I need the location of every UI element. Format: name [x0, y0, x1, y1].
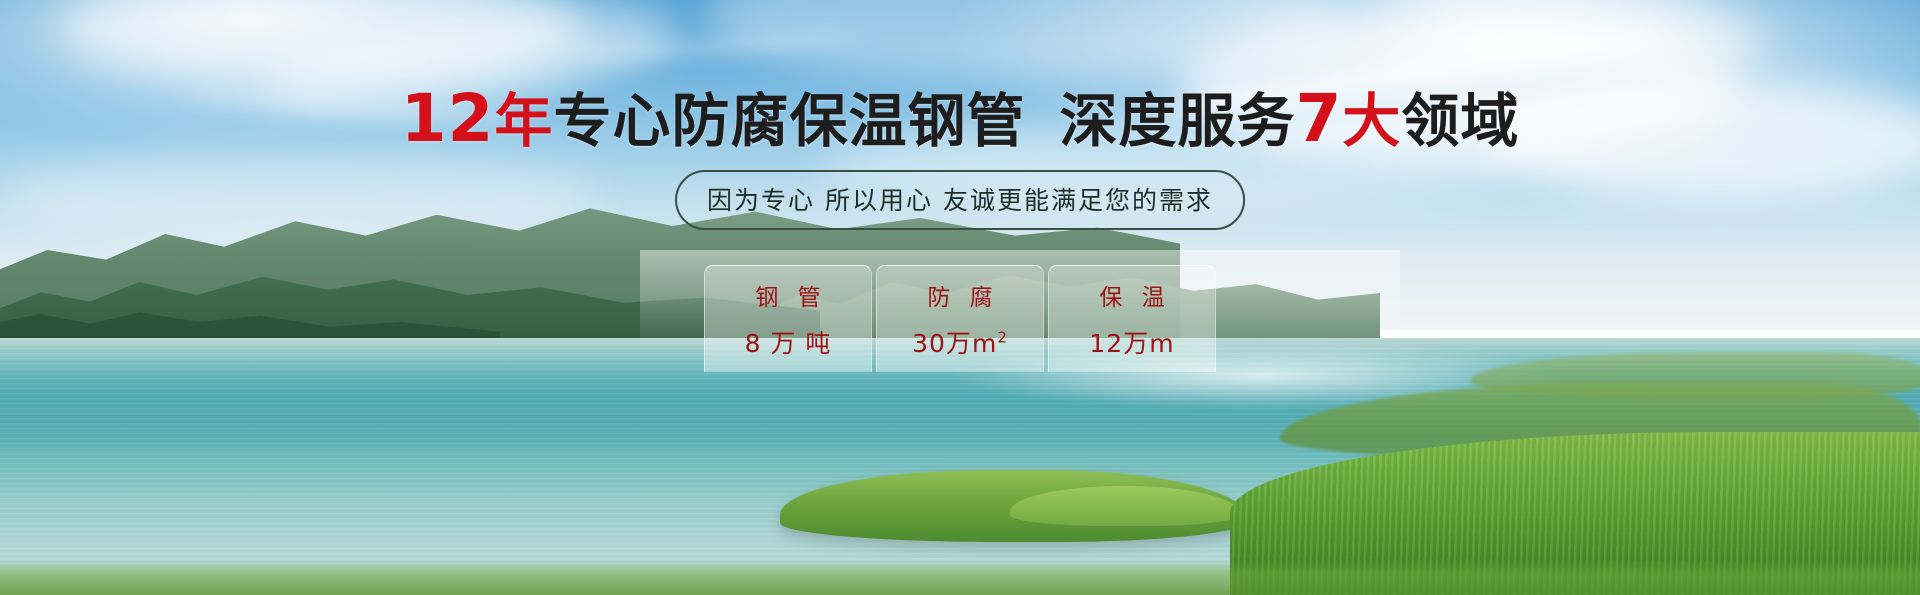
- hero-banner: 12年专心防腐保温钢管深度服务7大领域 因为专心 所以用心 友诚更能满足您的需求…: [0, 0, 1920, 595]
- headline-segment-3: 领域: [1401, 87, 1519, 155]
- stat-card-value: 30万m2: [912, 324, 1008, 360]
- stat-card-value: 8 万 吨: [745, 324, 832, 360]
- headline: 12年专心防腐保温钢管深度服务7大领域: [0, 86, 1920, 152]
- stat-card-label: 防 腐: [921, 278, 998, 312]
- stat-card-value-text: 8 万 吨: [745, 329, 832, 358]
- stat-card-value: 12万m: [1089, 324, 1174, 360]
- stat-card-label: 保 温: [1093, 278, 1170, 312]
- headline-segment-2: 深度服务: [1059, 87, 1295, 155]
- stat-card-label: 钢 管: [749, 278, 826, 312]
- headline-fields-number: 7: [1295, 80, 1342, 157]
- headline-segment-3-prefix: 大: [1342, 87, 1401, 155]
- stat-card-anticorrosion[interactable]: 防 腐 30万m2: [876, 265, 1044, 372]
- headline-segment-1: 专心防腐保温钢管: [553, 87, 1025, 155]
- stat-card-value-superscript: 2: [997, 329, 1008, 347]
- stat-card-insulation[interactable]: 保 温 12万m: [1048, 265, 1216, 372]
- headline-years-number: 12: [401, 80, 495, 157]
- stat-card-value-text: 30万m: [912, 329, 997, 358]
- stat-card-value-text: 12万m: [1089, 329, 1174, 358]
- subtitle-pill: 因为专心 所以用心 友诚更能满足您的需求: [675, 170, 1245, 230]
- banner-content: 12年专心防腐保温钢管深度服务7大领域 因为专心 所以用心 友诚更能满足您的需求…: [0, 0, 1920, 595]
- headline-years-unit: 年: [494, 87, 553, 155]
- stat-card-steel-pipe[interactable]: 钢 管 8 万 吨: [704, 265, 872, 372]
- stats-card-group: 钢 管 8 万 吨 防 腐 30万m2 保 温 12万m: [704, 265, 1216, 372]
